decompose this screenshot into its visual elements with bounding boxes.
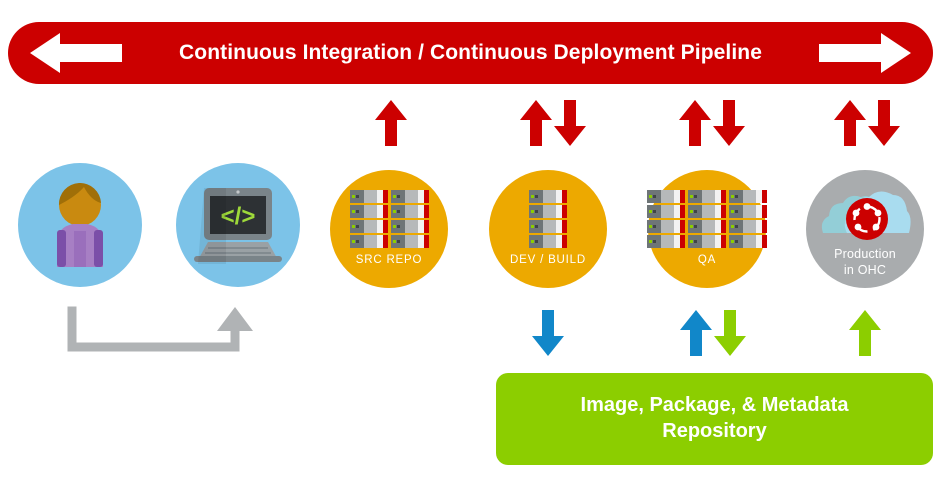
stage-label-src-repo: SRC REPO: [356, 254, 422, 267]
stage-circle-developer[interactable]: [18, 163, 142, 287]
stage-label-dev-build: DEV / BUILD: [510, 254, 586, 267]
stage-circle-workstation[interactable]: </>: [176, 163, 300, 287]
arrow-down-icon-dev-build-repo: [531, 310, 565, 356]
arrow-down-icon-dev-build: [553, 100, 587, 146]
stage-label-qa: QA: [698, 254, 716, 267]
laptop-code-icon: </>: [190, 186, 286, 264]
stage-circle-src-repo[interactable]: SRC REPO: [330, 170, 448, 288]
arrow-down-icon-qa-repo: [713, 310, 747, 356]
arrow-down-icon-production: [867, 100, 901, 146]
arrow-down-icon-qa: [712, 100, 746, 146]
arrow-up-icon-production-repo: [848, 310, 882, 356]
arrow-up-icon-src-repo: [374, 100, 408, 146]
repository-label: Image, Package, & Metadata Repository: [581, 393, 849, 444]
arrow-right-icon: [819, 31, 911, 75]
arrow-left-icon: [30, 31, 122, 75]
server-rack-icon-src-repo: [350, 190, 429, 248]
pipeline-banner-title: Continuous Integration / Continuous Depl…: [179, 41, 762, 65]
stage-label-production-line1: Production: [834, 247, 896, 261]
repository-label-line2: Repository: [581, 419, 849, 445]
stage-circle-production[interactable]: Production in OHC: [806, 170, 924, 288]
stage-label-production-line2: in OHC: [844, 263, 886, 277]
cloud-openshift-icon: [817, 181, 913, 243]
stage-circle-dev-build[interactable]: DEV / BUILD: [489, 170, 607, 288]
diagram-canvas: Continuous Integration / Continuous Depl…: [0, 0, 941, 500]
arrow-up-icon-dev-build: [519, 100, 553, 146]
pipeline-banner: Continuous Integration / Continuous Depl…: [8, 22, 933, 84]
arrow-up-icon-qa: [678, 100, 712, 146]
repository-label-line1: Image, Package, & Metadata: [581, 393, 849, 419]
server-rack-icon-qa: [647, 190, 767, 248]
repository-box[interactable]: Image, Package, & Metadata Repository: [496, 373, 933, 465]
stage-circle-qa[interactable]: QA: [648, 170, 766, 288]
person-icon: [43, 183, 117, 267]
server-rack-icon-dev-build: [529, 190, 567, 248]
elbow-arrow-up-icon: [63, 305, 263, 357]
arrow-up-icon-qa-repo: [679, 310, 713, 356]
arrow-up-icon-production: [833, 100, 867, 146]
